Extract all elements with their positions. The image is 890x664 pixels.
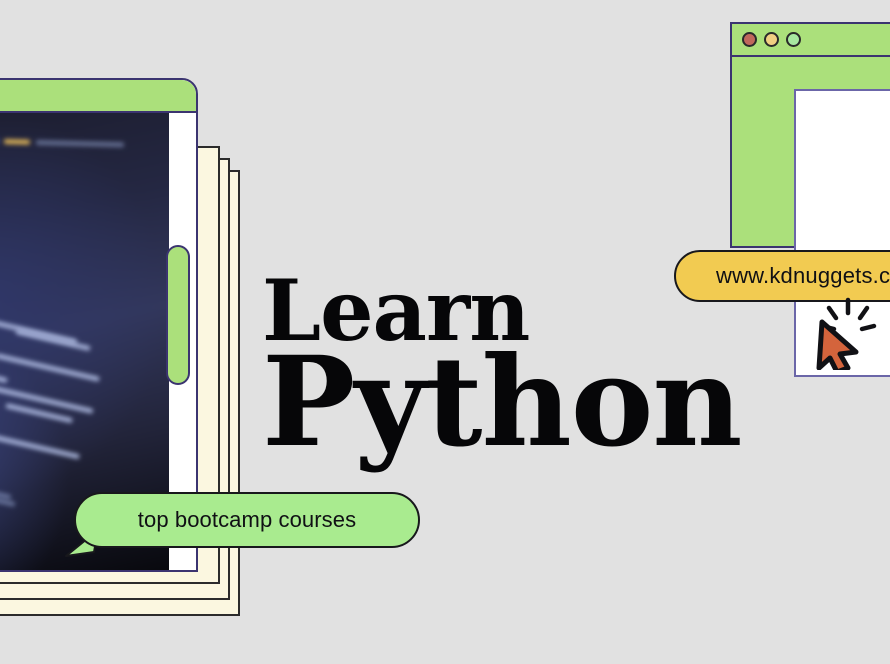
traffic-light-close-icon[interactable] bbox=[742, 32, 757, 47]
url-pill[interactable]: www.kdnuggets.com bbox=[674, 250, 890, 302]
scrollbar-thumb-icon[interactable] bbox=[166, 245, 190, 385]
traffic-light-maximize-icon[interactable] bbox=[786, 32, 801, 47]
traffic-light-minimize-icon[interactable] bbox=[764, 32, 779, 47]
code-line bbox=[4, 139, 30, 145]
poster-canvas: top bootcamp courses Learn Python www.kd… bbox=[0, 0, 890, 664]
speech-bubble-label: top bootcamp courses bbox=[138, 507, 356, 533]
browser-titlebar bbox=[732, 24, 890, 57]
headline-line-python: Python bbox=[262, 345, 742, 462]
url-text: www.kdnuggets.com bbox=[676, 263, 890, 289]
arrow-cursor-icon bbox=[804, 296, 882, 370]
code-window-titlebar bbox=[0, 80, 196, 113]
speech-bubble[interactable]: top bootcamp courses bbox=[74, 492, 420, 548]
page-title: Learn Python bbox=[262, 272, 742, 462]
